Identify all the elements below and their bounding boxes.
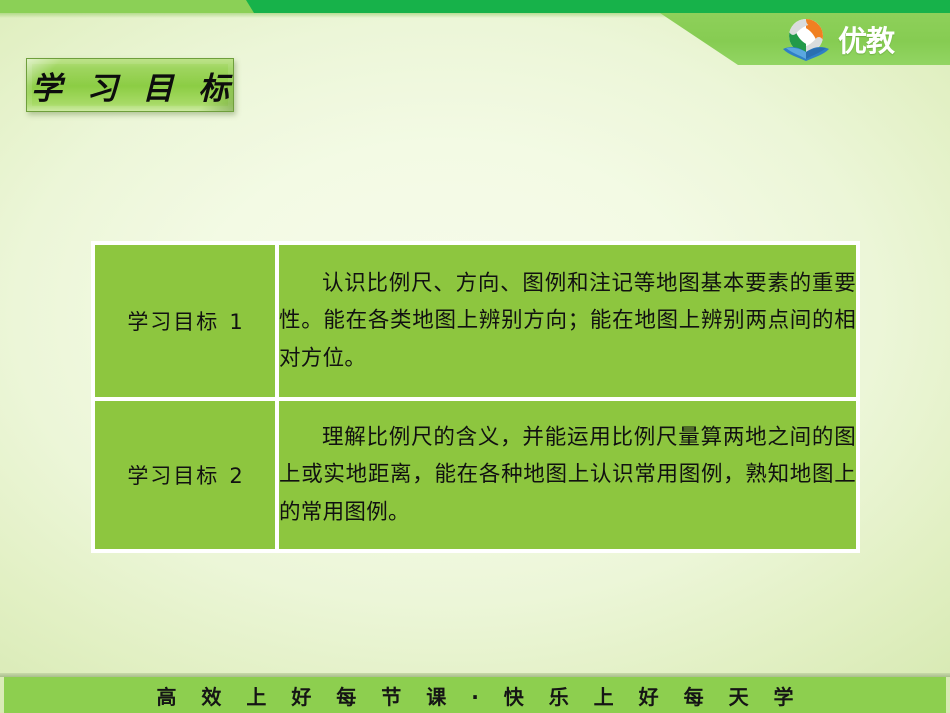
goal-number: 2 bbox=[229, 464, 242, 488]
footer-slogan: 高 效 上 好 每 节 课 · 快 乐 上 好 每 天 学 bbox=[147, 681, 802, 710]
learning-goals-table: 学习目标1 认识比例尺、方向、图例和注记等地图基本要素的重要性。能在各类地图上辨… bbox=[93, 243, 858, 551]
goal-label-cell: 学习目标1 bbox=[93, 243, 277, 399]
brand-name: 优教 bbox=[838, 27, 894, 56]
goal-number: 1 bbox=[229, 310, 242, 334]
slide-canvas: 优教 学 习 目 标 学习目标1 认识比例尺、方向、图例和注记等地图基本要素的重… bbox=[0, 0, 950, 713]
footer-bar: 高 效 上 好 每 节 课 · 快 乐 上 好 每 天 学 bbox=[4, 677, 946, 713]
table-row: 学习目标2 理解比例尺的含义，并能运用比例尺量算两地之间的图上或实地距离，能在各… bbox=[93, 399, 858, 551]
swirl-book-logo-icon bbox=[780, 17, 832, 65]
goal-body-cell: 理解比例尺的含义，并能运用比例尺量算两地之间的图上或实地距离，能在各种地图上认识… bbox=[277, 399, 858, 551]
goal-label-text: 学习目标 bbox=[127, 464, 219, 488]
goal-body-cell: 认识比例尺、方向、图例和注记等地图基本要素的重要性。能在各类地图上辨别方向；能在… bbox=[277, 243, 858, 399]
goal-label-cell: 学习目标2 bbox=[93, 399, 277, 551]
brand-logo: 优教 bbox=[780, 16, 940, 66]
page-title: 学 习 目 标 bbox=[24, 63, 236, 108]
slide-title-plaque: 学 习 目 标 bbox=[26, 58, 234, 112]
goal-label-text: 学习目标 bbox=[127, 310, 219, 334]
table-row: 学习目标1 认识比例尺、方向、图例和注记等地图基本要素的重要性。能在各类地图上辨… bbox=[93, 243, 858, 399]
